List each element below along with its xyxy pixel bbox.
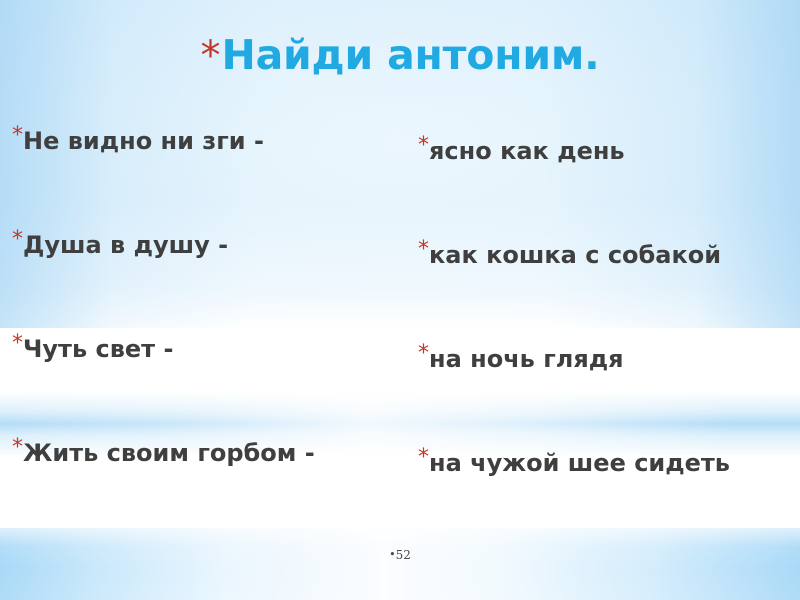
page-title: *Найди антоним.: [40, 34, 760, 77]
list-item-label: Душа в душу -: [23, 232, 228, 259]
list-item: *ясно как день: [418, 134, 796, 238]
asterisk-bullet-icon: *: [418, 343, 429, 365]
list-item-label: Чуть свет -: [23, 336, 173, 363]
list-item: *на чужой шее сидеть: [418, 446, 796, 550]
asterisk-bullet-icon: *: [12, 125, 23, 147]
asterisk-bullet-icon: *: [418, 135, 429, 157]
right-column: *ясно как день *как кошка с собакой *на …: [418, 134, 796, 550]
asterisk-bullet-icon: *: [12, 437, 23, 459]
list-item: *как кошка с собакой: [418, 238, 796, 342]
page-title-text: Найди антоним.: [221, 34, 599, 77]
title-line: *Найди антоним.: [200, 34, 599, 77]
list-item-label: на чужой шее сидеть: [429, 450, 730, 477]
list-item: *Не видно ни зги -: [12, 124, 412, 228]
left-column: *Не видно ни зги - *Душа в душу - *Чуть …: [12, 124, 412, 540]
list-item-label: Жить своим горбом -: [23, 440, 315, 467]
list-item: *на ночь глядя: [418, 342, 796, 446]
asterisk-bullet-icon: *: [12, 333, 23, 355]
list-item: *Чуть свет -: [12, 332, 412, 436]
page-number: •52: [0, 548, 800, 562]
slide-root: *Найди антоним. *Не видно ни зги - *Душа…: [0, 0, 800, 600]
asterisk-bullet-icon: *: [418, 447, 429, 469]
list-item: *Душа в душу -: [12, 228, 412, 332]
list-item-label: ясно как день: [429, 138, 625, 165]
page-number-value: 52: [396, 548, 411, 562]
list-item-label: на ночь глядя: [429, 346, 624, 373]
asterisk-bullet-icon: *: [12, 229, 23, 251]
list-item-label: Не видно ни зги -: [23, 128, 264, 155]
list-item: *Жить своим горбом -: [12, 436, 412, 540]
list-item-label: как кошка с собакой: [429, 242, 721, 269]
asterisk-bullet-icon: *: [200, 36, 220, 76]
asterisk-bullet-icon: *: [418, 239, 429, 261]
